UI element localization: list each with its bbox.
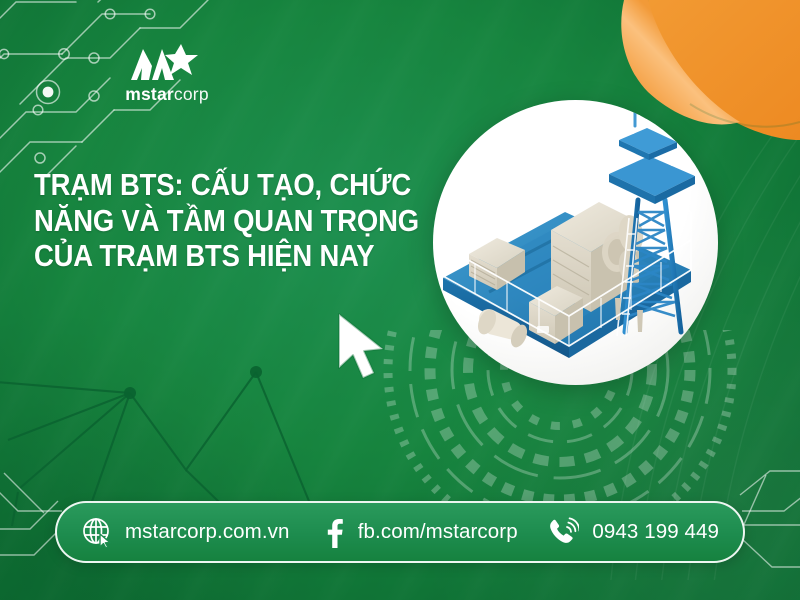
headline-line-2: NĂNG VÀ TẦM QUAN TRỌNG <box>34 204 349 240</box>
contact-footer-bar: mstarcorp.com.vn fb.com/mstarcorp <box>55 501 745 563</box>
footer-phone[interactable]: 0943 199 449 <box>545 516 719 548</box>
facebook-f-icon <box>324 516 344 548</box>
phone-label: 0943 199 449 <box>592 520 719 544</box>
mstar-m-star-logo-icon <box>129 44 205 82</box>
website-label: mstarcorp.com.vn <box>125 520 290 544</box>
phone-ringing-icon <box>545 516 579 548</box>
headline-line-1: TRẠM BTS: CẤU TẠO, CHỨC <box>34 168 349 204</box>
globe-icon <box>81 516 113 548</box>
poster-canvas: mstarcorp TRẠM BTS: CẤU TẠO, CHỨC NĂNG V… <box>0 0 800 600</box>
brand-name-bold: mstar <box>125 84 174 104</box>
brand-name-light: corp <box>174 84 209 104</box>
headline-line-3: CỦA TRẠM BTS HIỆN NAY <box>34 239 349 275</box>
mouse-pointer-icon <box>333 312 393 384</box>
hero-image <box>433 100 718 385</box>
facebook-label: fb.com/mstarcorp <box>358 520 518 544</box>
footer-website[interactable]: mstarcorp.com.vn <box>81 516 290 548</box>
brand-wordmark: mstarcorp <box>112 86 222 104</box>
brand-logo: mstarcorp <box>112 44 222 104</box>
footer-facebook[interactable]: fb.com/mstarcorp <box>324 516 518 548</box>
bts-station-illustration <box>433 100 718 385</box>
page-title: TRẠM BTS: CẤU TẠO, CHỨC NĂNG VÀ TẦM QUAN… <box>34 168 349 275</box>
